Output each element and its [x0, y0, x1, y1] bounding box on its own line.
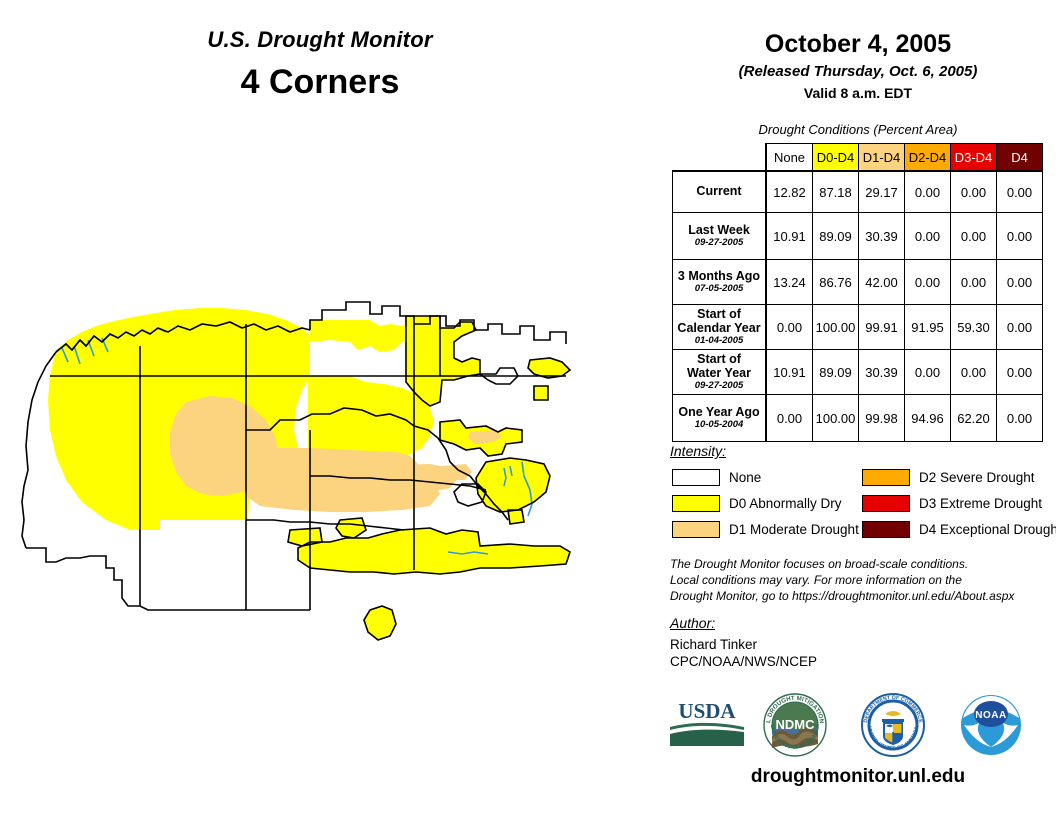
valid-time: Valid 8 a.m. EDT — [660, 85, 1056, 101]
column-header-none: None — [766, 144, 813, 172]
author-organization: CPC/NOAA/NWS/NCEP — [670, 654, 817, 669]
legend-label: D0 Abnormally Dry — [729, 496, 842, 511]
row-label-last-week: Last Week 09-27-2005 — [673, 213, 767, 260]
cell-value: 12.82 — [766, 171, 813, 213]
cell-value: 89.09 — [813, 213, 859, 260]
legend-column-right: D2 Severe Drought D3 Extreme Drought D4 … — [862, 469, 1056, 547]
noaa-logo-icon: NOAA — [958, 692, 1024, 758]
cell-value: 0.00 — [951, 213, 997, 260]
legend-item-d4: D4 Exceptional Drought — [862, 521, 1056, 538]
table-corner-cell — [673, 144, 767, 172]
drought-map — [10, 280, 650, 660]
table-row: Start ofCalendar Year 01-04-2005 0.00 10… — [673, 305, 1043, 350]
row-label-text: Current — [673, 184, 765, 198]
cell-value: 0.00 — [997, 395, 1043, 442]
legend-swatch-d1-icon — [672, 521, 720, 538]
cell-value: 29.17 — [859, 171, 905, 213]
ndmc-logo-icon: NATIONAL DROUGHT MITIGATION CENTER UNIVE… — [762, 692, 828, 758]
cell-value: 0.00 — [997, 260, 1043, 305]
svg-text:NDMC: NDMC — [776, 717, 816, 732]
cell-value: 0.00 — [951, 171, 997, 213]
legend-label: D2 Severe Drought — [919, 470, 1035, 485]
row-label-text: Last Week — [673, 223, 765, 237]
logo-row: USDA NATIONAL DROUGHT MITIGATION CENTER … — [660, 692, 1056, 758]
cell-value: 0.00 — [905, 260, 951, 305]
row-label-date: 10-05-2004 — [673, 420, 765, 431]
cell-value: 10.91 — [766, 213, 813, 260]
cell-value: 99.91 — [859, 305, 905, 350]
table-row: Current 12.82 87.18 29.17 0.00 0.00 0.00 — [673, 171, 1043, 213]
cell-value: 13.24 — [766, 260, 813, 305]
legend-label: D3 Extreme Drought — [919, 496, 1042, 511]
row-label-start-of-calendar-year: Start ofCalendar Year 01-04-2005 — [673, 305, 767, 350]
cell-value: 0.00 — [766, 395, 813, 442]
legend-label: None — [729, 470, 761, 485]
legend-column-left: None D0 Abnormally Dry D1 Moderate Droug… — [672, 469, 859, 547]
site-url: droughtmonitor.unl.edu — [660, 766, 1056, 788]
cell-value: 89.09 — [813, 350, 859, 395]
svg-text:USDA: USDA — [678, 699, 736, 723]
cell-value: 100.00 — [813, 395, 859, 442]
cell-value: 10.91 — [766, 350, 813, 395]
table-header-row: None D0-D4 D1-D4 D2-D4 D3-D4 D4 — [673, 144, 1043, 172]
column-header-d1-d4: D1-D4 — [859, 144, 905, 172]
table-row: 3 Months Ago 07-05-2005 13.24 86.76 42.0… — [673, 260, 1043, 305]
table-row: Start ofWater Year 09-27-2005 10.91 89.0… — [673, 350, 1043, 395]
legend-item-d2: D2 Severe Drought — [862, 469, 1056, 486]
row-label-text: Start ofWater Year — [673, 352, 765, 381]
cell-value: 100.00 — [813, 305, 859, 350]
row-label-current: Current — [673, 171, 767, 213]
column-header-d2-d4: D2-D4 — [905, 144, 951, 172]
cell-value: 87.18 — [813, 171, 859, 213]
row-label-text: Start ofCalendar Year — [673, 307, 765, 336]
legend-item-d0: D0 Abnormally Dry — [672, 495, 859, 512]
disclaimer-line-2: Local conditions may vary. For more info… — [670, 572, 1050, 588]
column-header-d0-d4: D0-D4 — [813, 144, 859, 172]
cell-value: 0.00 — [766, 305, 813, 350]
cell-value: 0.00 — [997, 350, 1043, 395]
released-date: (Released Thursday, Oct. 6, 2005) — [660, 63, 1056, 80]
legend-label: D4 Exceptional Drought — [919, 522, 1056, 537]
row-label-text: One Year Ago — [673, 405, 765, 419]
cell-value: 59.30 — [951, 305, 997, 350]
disclaimer: The Drought Monitor focuses on broad-sca… — [670, 556, 1050, 605]
map-svg — [10, 280, 650, 660]
cell-value: 0.00 — [997, 213, 1043, 260]
cell-value: 99.98 — [859, 395, 905, 442]
row-label-date: 01-04-2005 — [673, 336, 765, 347]
legend-swatch-d4-icon — [862, 521, 910, 538]
column-header-d4: D4 — [997, 144, 1043, 172]
row-label-text: 3 Months Ago — [673, 269, 765, 283]
row-label-date: 07-05-2005 — [673, 284, 765, 295]
title-block: U.S. Drought Monitor 4 Corners — [0, 28, 640, 102]
cell-value: 62.20 — [951, 395, 997, 442]
row-label-start-of-water-year: Start ofWater Year 09-27-2005 — [673, 350, 767, 395]
cell-value: 0.00 — [997, 171, 1043, 213]
cell-value: 0.00 — [905, 350, 951, 395]
doc-seal-logo-icon: DEPARTMENT OF COMMERCE UNITED STATES OF … — [860, 692, 926, 758]
date-block: October 4, 2005 (Released Thursday, Oct.… — [660, 30, 1056, 101]
column-header-d3-d4: D3-D4 — [951, 144, 997, 172]
intensity-heading: Intensity: — [670, 443, 726, 459]
table-row: One Year Ago 10-05-2004 0.00 100.00 99.9… — [673, 395, 1043, 442]
page-title: U.S. Drought Monitor — [0, 28, 640, 52]
disclaimer-line-3: Drought Monitor, go to https://droughtmo… — [670, 588, 1050, 604]
legend-swatch-d2-icon — [862, 469, 910, 486]
drought-conditions-table: None D0-D4 D1-D4 D2-D4 D3-D4 D4 Current … — [672, 143, 1043, 442]
cell-value: 91.95 — [905, 305, 951, 350]
cell-value: 0.00 — [951, 350, 997, 395]
author-name: Richard Tinker — [670, 637, 757, 652]
legend-swatch-none-icon — [672, 469, 720, 486]
cell-value: 42.00 — [859, 260, 905, 305]
usda-logo-icon: USDA — [668, 696, 746, 748]
cell-value: 0.00 — [951, 260, 997, 305]
legend-swatch-d3-icon — [862, 495, 910, 512]
row-label-one-year-ago: One Year Ago 10-05-2004 — [673, 395, 767, 442]
legend-item-none: None — [672, 469, 859, 486]
legend-label: D1 Moderate Drought — [729, 522, 859, 537]
row-label-3-months-ago: 3 Months Ago 07-05-2005 — [673, 260, 767, 305]
svg-text:NOAA: NOAA — [975, 710, 1006, 721]
row-label-date: 09-27-2005 — [673, 238, 765, 249]
legend-swatch-d0-icon — [672, 495, 720, 512]
cell-value: 94.96 — [905, 395, 951, 442]
table-row: Last Week 09-27-2005 10.91 89.09 30.39 0… — [673, 213, 1043, 260]
legend-item-d1: D1 Moderate Drought — [672, 521, 859, 538]
table-caption: Drought Conditions (Percent Area) — [660, 122, 1056, 137]
cell-value: 0.00 — [905, 171, 951, 213]
cell-value: 0.00 — [905, 213, 951, 260]
valid-date: October 4, 2005 — [660, 30, 1056, 59]
cell-value: 30.39 — [859, 350, 905, 395]
legend-item-d3: D3 Extreme Drought — [862, 495, 1056, 512]
cell-value: 30.39 — [859, 213, 905, 260]
disclaimer-line-1: The Drought Monitor focuses on broad-sca… — [670, 556, 1050, 572]
page-subtitle: 4 Corners — [0, 64, 640, 101]
cell-value: 86.76 — [813, 260, 859, 305]
author-heading: Author: — [670, 615, 715, 631]
cell-value: 0.00 — [997, 305, 1043, 350]
row-label-date: 09-27-2005 — [673, 381, 765, 392]
